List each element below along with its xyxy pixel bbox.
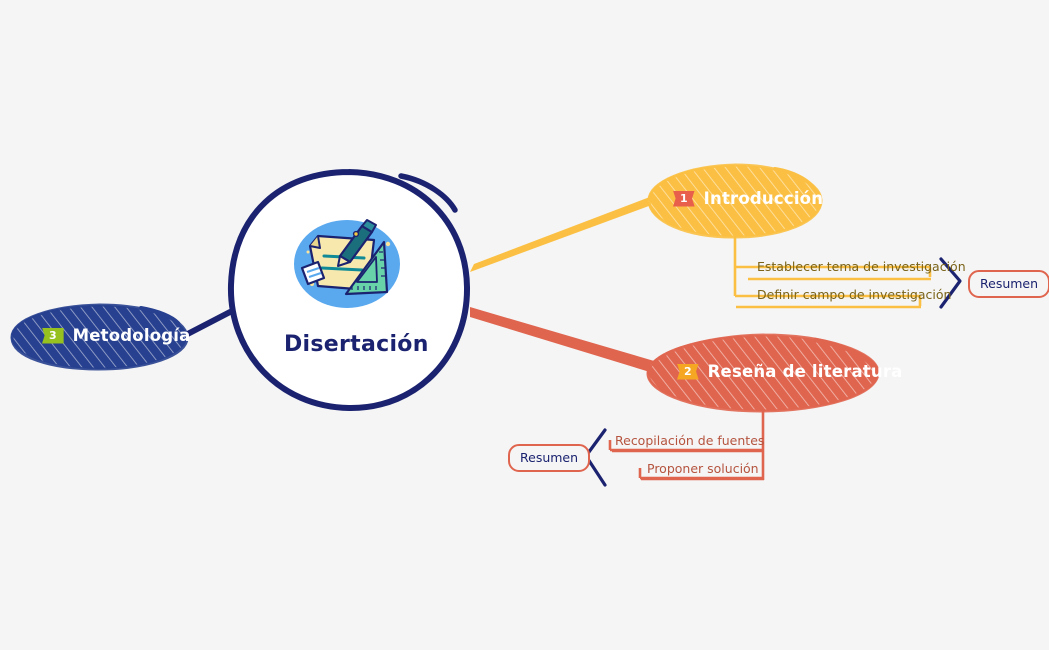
center-node-title: Disertación (0, 332, 1049, 357)
leaf-proponer-solucion[interactable]: Proponer solución (647, 461, 759, 476)
mindmap-canvas: Disertación 1 Introducción 2 Reseña de l… (0, 0, 1049, 650)
node-introduccion[interactable] (640, 160, 840, 250)
connector-center-to-introduccion (470, 190, 668, 272)
summary-box-resena-de-literatura[interactable]: Resumen (508, 444, 590, 472)
dissertation-writing-icon (294, 220, 400, 308)
leaf-recopilacion-de-fuentes[interactable]: Recopilación de fuentes (615, 433, 764, 448)
mindmap-svg-layer (0, 0, 1049, 650)
leaf-definir-campo-de-investigacion[interactable]: Definir campo de investigación (757, 287, 951, 302)
summary-box-introduccion[interactable]: Resumen (968, 270, 1049, 298)
leaf-establecer-tema-de-investigacion[interactable]: Establecer tema de investigación (757, 259, 966, 274)
